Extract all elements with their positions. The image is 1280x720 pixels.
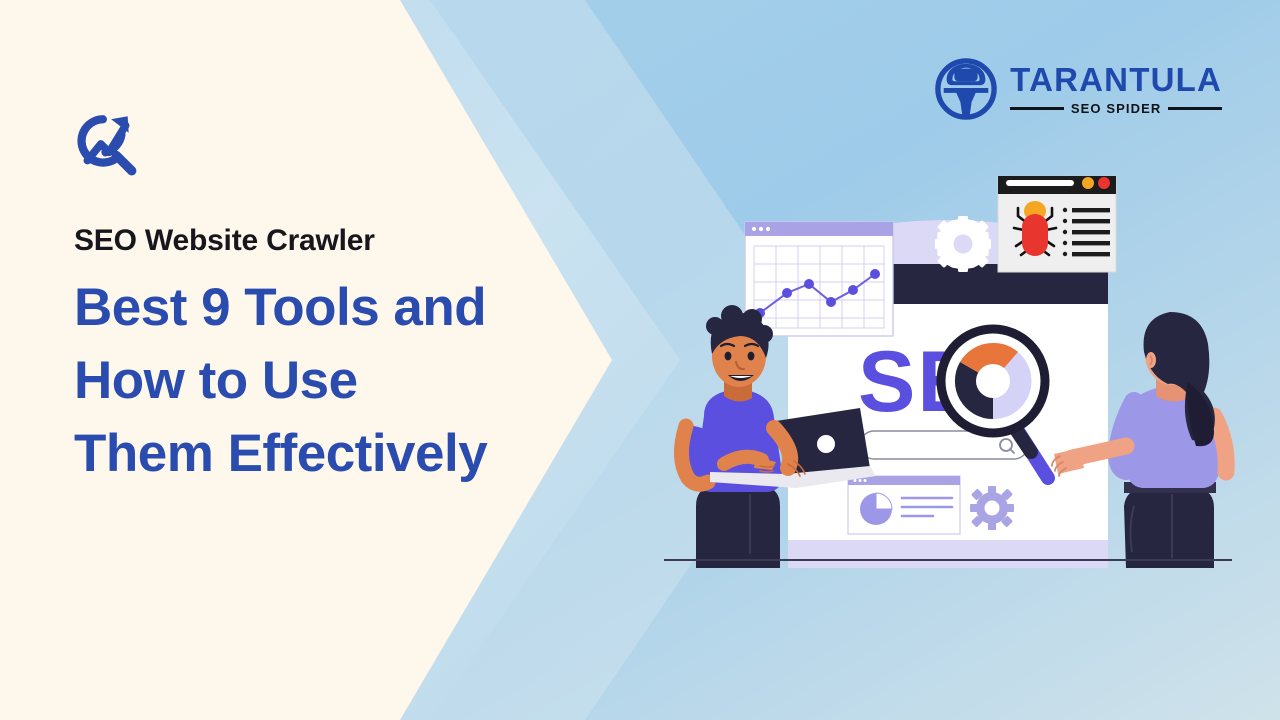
headline-line-2: How to Use	[74, 344, 634, 417]
man-pants	[696, 486, 780, 568]
pie-chart-glyph	[860, 493, 892, 525]
logo-rule-left	[1010, 107, 1064, 110]
logo-text-block: TARANTULA SEO SPIDER	[1010, 63, 1222, 116]
pie-chart-window	[848, 476, 960, 534]
window-dot	[752, 227, 756, 231]
logo-tagline-row: SEO SPIDER	[1010, 101, 1222, 116]
window-dot-amber	[1082, 177, 1094, 189]
logo-wordmark: TARANTULA	[1010, 63, 1222, 96]
window-dot-red	[1098, 177, 1110, 189]
banner-canvas: TARANTULA SEO SPIDER SEO Website Crawler…	[0, 0, 1280, 720]
line-chart-window	[745, 222, 893, 336]
hero-headline: Best 9 Tools and How to Use Them Effecti…	[74, 271, 634, 490]
gear-icon-bottom	[970, 486, 1014, 530]
logo-rule-right	[1168, 107, 1222, 110]
hero-kicker: SEO Website Crawler	[74, 224, 634, 257]
window-dot	[766, 227, 770, 231]
gear-icon-top	[935, 216, 991, 272]
donut-chart-glyph	[955, 343, 1032, 419]
bug-report-window	[998, 176, 1116, 272]
tarantula-spider-emblem-icon	[935, 58, 997, 120]
window-dot	[759, 227, 763, 231]
headline-line-1: Best 9 Tools and	[74, 271, 634, 344]
laptop-logo	[817, 435, 835, 453]
hero-text-block: SEO Website Crawler Best 9 Tools and How…	[74, 110, 634, 490]
brand-logo[interactable]: TARANTULA SEO SPIDER	[935, 58, 1222, 120]
window-url-bar	[1006, 180, 1074, 186]
headline-line-3: Them Effectively	[74, 417, 634, 490]
seo-team-illustration: SEO	[648, 176, 1248, 568]
trending-search-icon	[74, 110, 140, 176]
woman-pants	[1124, 488, 1214, 568]
logo-tagline: SEO SPIDER	[1071, 101, 1161, 116]
